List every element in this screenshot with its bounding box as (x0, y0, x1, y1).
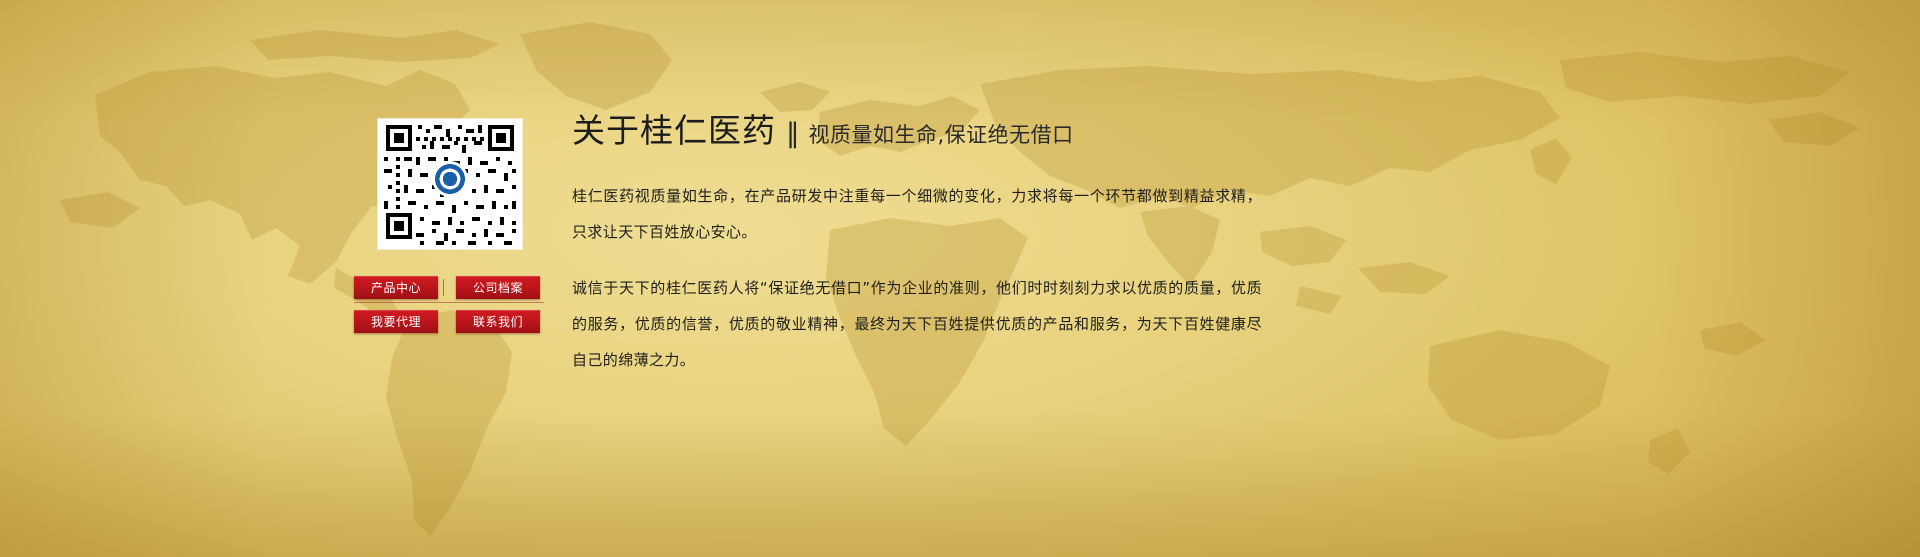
about-section: 产品中心 公司档案 我要代理 联系我们 关于桂仁医药 ‖ 视质量如生命,保证绝无… (0, 0, 1920, 557)
about-body: 桂仁医药视质量如生命，在产品研发中注重每一个细微的变化，力求将每一个环节都做到精… (572, 178, 1262, 378)
contact-us-button[interactable]: 联系我们 (456, 310, 540, 333)
button-underline (354, 302, 544, 303)
about-paragraph-2: 诚信于天下的桂仁医药人将“保证绝无借口”作为企业的准则，他们时时刻刻力求以优质的… (572, 270, 1262, 378)
about-paragraph-1: 桂仁医药视质量如生命，在产品研发中注重每一个细微的变化，力求将每一个环节都做到精… (572, 178, 1262, 250)
company-profile-button[interactable]: 公司档案 (456, 276, 540, 299)
qr-code-image (378, 119, 522, 249)
page-subtitle: 视质量如生命,保证绝无借口 (809, 125, 1074, 146)
product-center-button[interactable]: 产品中心 (354, 276, 438, 299)
left-column: 产品中心 公司档案 我要代理 联系我们 (354, 119, 544, 333)
right-column: 关于桂仁医药 ‖ 视质量如生命,保证绝无借口 桂仁医药视质量如生命，在产品研发中… (572, 114, 1262, 378)
quick-link-buttons: 产品中心 公司档案 我要代理 联系我们 (354, 276, 544, 333)
become-agent-button[interactable]: 我要代理 (354, 310, 438, 333)
title-divider-glyph: ‖ (786, 120, 800, 147)
button-divider (443, 279, 444, 296)
page-title: 关于桂仁医药 ‖ 视质量如生命,保证绝无借口 (572, 114, 1262, 147)
page-title-main: 关于桂仁医药 (572, 114, 776, 147)
